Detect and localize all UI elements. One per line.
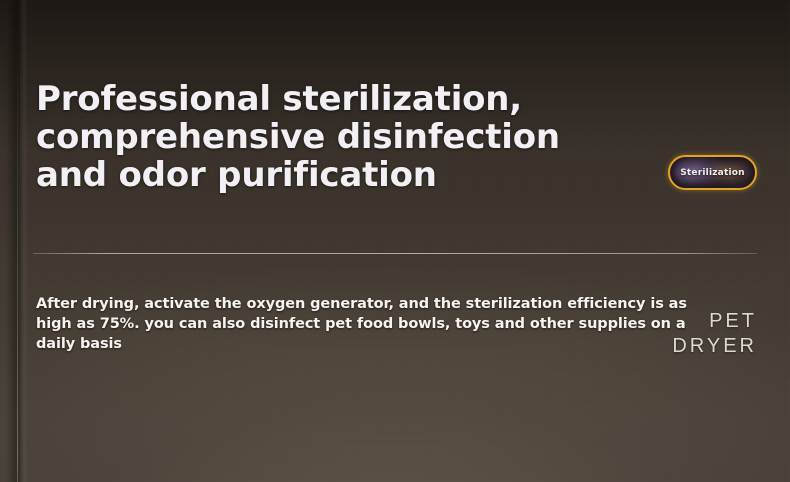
banner-content: Professional sterilization, comprehensiv…	[0, 0, 790, 482]
section-divider	[33, 253, 757, 254]
sterilization-badge-label: Sterilization	[680, 168, 744, 178]
sterilization-badge[interactable]: Sterilization	[668, 155, 757, 190]
product-feature-banner: Professional sterilization, comprehensiv…	[0, 0, 790, 482]
body-description: After drying, activate the oxygen genera…	[36, 294, 714, 354]
wordmark-line-pet: PET	[672, 309, 757, 334]
headline: Professional sterilization, comprehensiv…	[36, 80, 656, 194]
wordmark-line-dryer: DRYER	[672, 334, 757, 359]
brand-wordmark: PET DRYER	[672, 309, 757, 359]
